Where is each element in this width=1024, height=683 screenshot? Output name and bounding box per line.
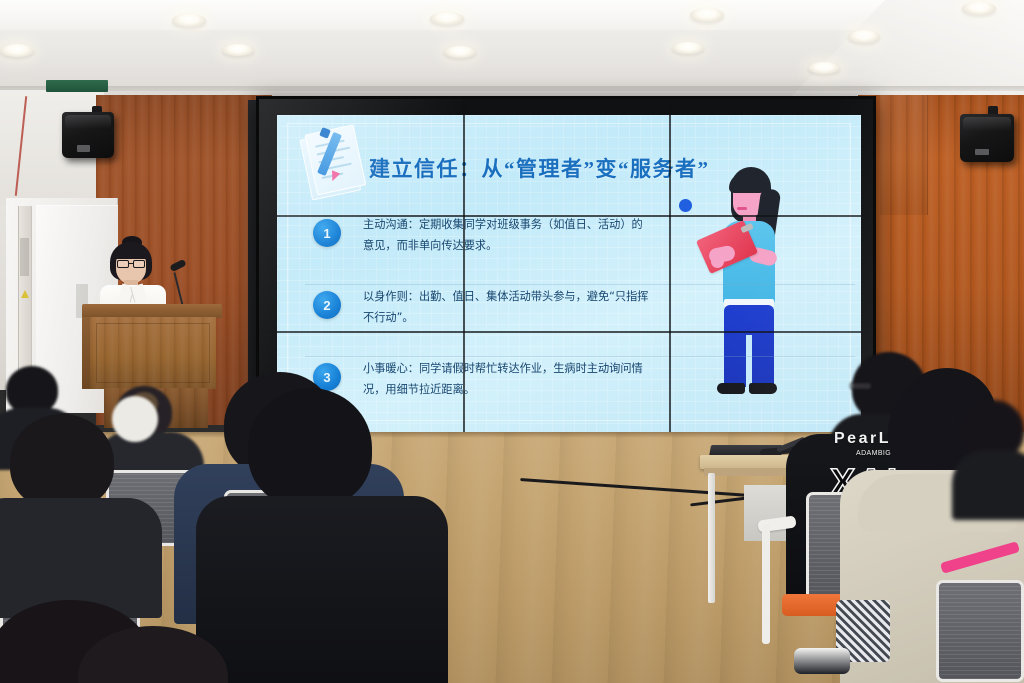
ceiling-downlight	[172, 14, 206, 27]
presentation-slide: 建立信任：从“管理者”变“服务者”	[277, 115, 861, 435]
glasses-icon	[850, 382, 872, 390]
ceiling-downlight	[808, 62, 840, 74]
video-wall-seam-vertical	[463, 99, 465, 457]
head	[10, 414, 114, 510]
figure-shoe-left	[717, 383, 745, 394]
chair-mesh	[939, 583, 1021, 679]
ceiling-downlight	[848, 30, 880, 43]
decorative-dot-small	[679, 199, 692, 212]
slide-title: 建立信任：从“管理者”变“服务者”	[369, 153, 710, 183]
glasses-lens-left	[117, 260, 129, 268]
glasses-lens-right	[133, 260, 145, 268]
slide-bullet-list: 1 主动沟通：定期收集同学对班级事务（如值日、活动）的意见，而非单向传达要求。 …	[305, 213, 655, 429]
bullet-number-badge: 1	[313, 219, 341, 247]
shoulders	[952, 450, 1024, 520]
video-wall-seam-horizontal	[259, 215, 873, 217]
shoe	[794, 648, 850, 674]
chair-post	[762, 524, 770, 644]
ceiling-edge-shadow	[0, 86, 1024, 91]
wall-wood-panel-seam	[880, 95, 928, 215]
desk-leg-left	[708, 473, 715, 603]
wall-speaker-left	[62, 112, 114, 158]
figure-hair-front	[729, 173, 765, 193]
podium-front-panel	[90, 317, 216, 389]
slide-bullet-item: 2 以身作则：出勤、值日、集体活动带头参与，避免“只指挥不行动”。	[305, 285, 655, 357]
ceiling-downlight	[222, 44, 254, 56]
ceiling-downlight	[962, 2, 996, 15]
slide-bullet-item: 1 主动沟通：定期收集同学对班级事务（如值日、活动）的意见，而非单向传达要求。	[305, 213, 655, 285]
head	[6, 366, 58, 414]
ceiling-downlight	[0, 44, 34, 57]
bullet-text: 小事暖心：同学请假时帮忙转达作业，生病时主动询问情况，用细节拉近距离。	[363, 359, 653, 400]
figure-mouth	[737, 207, 747, 210]
podium-top	[82, 304, 222, 318]
figure-shoe-right	[749, 383, 777, 394]
bullet-number-badge: 2	[313, 291, 341, 319]
person-with-clipboard-illustration	[695, 167, 805, 409]
bullet-text: 主动沟通：定期收集同学对班级事务（如值日、活动）的意见，而非单向传达要求。	[363, 215, 653, 256]
podium-placard	[46, 80, 108, 92]
presenter-bangs	[112, 246, 150, 259]
classroom-presentation-photo: 建立信任：从“管理者”变“服务者”	[0, 0, 1024, 683]
wall-speaker-right	[960, 114, 1014, 162]
speaker-badge	[77, 145, 91, 151]
ceiling	[0, 0, 1024, 104]
cabinet-label	[20, 238, 29, 276]
ceiling-downlight	[690, 8, 724, 22]
shoulders	[196, 496, 448, 683]
ceiling-downlight	[430, 12, 464, 25]
clipboard-pen-illustration	[292, 120, 377, 205]
chair-headrest-white	[112, 396, 158, 442]
head	[248, 388, 372, 508]
bullet-text: 以身作则：出勤、值日、集体活动带头参与，避免“只指挥不行动”。	[363, 287, 653, 328]
video-wall-seam-horizontal	[259, 331, 873, 333]
video-wall-seam-vertical	[669, 99, 671, 457]
speaker-badge	[975, 149, 989, 156]
figure-hand-left	[711, 255, 724, 268]
figure-leg-gap	[746, 335, 752, 389]
chair-back	[936, 580, 1024, 682]
glasses-icon	[117, 260, 145, 268]
ceiling-downlight	[444, 46, 476, 58]
ceiling-downlight	[672, 42, 704, 54]
